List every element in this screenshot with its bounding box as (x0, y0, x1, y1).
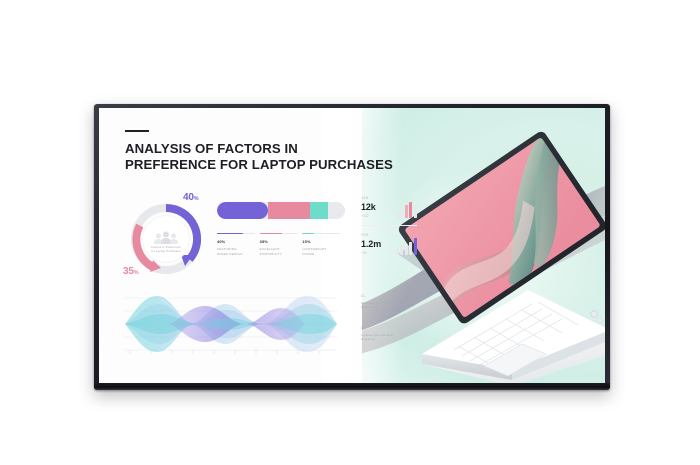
note-number: 02 (361, 326, 419, 330)
legend-caption: EXCELLENT PORTABILITY (260, 247, 298, 255)
sparkline-bar (409, 242, 412, 255)
legend-track (217, 233, 255, 234)
legend: 40% FEATURING SLEEK DESIGN 35% E (217, 233, 345, 256)
legend-track (260, 233, 298, 234)
donut-label-secondary: 35% (123, 266, 138, 277)
legend-track (302, 233, 340, 234)
legend-item: 35% EXCELLENT PORTABILITY (260, 233, 303, 256)
donut-caption-line-2: for Laptop Purchases (140, 249, 192, 253)
title-line-1: ANALYSIS OF FACTORS IN (125, 141, 387, 157)
donut-center-caption: Factors in Preference for Laptop Purchas… (140, 245, 192, 253)
stacked-bar-segment (268, 202, 310, 219)
note-item: 02 Lightweight and Ever Powerful (361, 326, 419, 342)
notes-column: 01 Slim Design We Trust Reasoning 02 Lig… (361, 294, 419, 357)
legend-pct: 40% (217, 239, 255, 244)
sparkline-chart (396, 238, 417, 255)
note-text: Lightweight and Ever Powerful (361, 333, 419, 342)
stat-label: JAN (361, 196, 417, 200)
legend-bar (302, 233, 314, 234)
legend-item: 40% FEATURING SLEEK DESIGN (217, 233, 260, 256)
stat-label: FEB (361, 233, 417, 237)
stat-card: JAN 12k +432 (361, 196, 417, 226)
slide-header: ANALYSIS OF FACTORS IN PREFERENCE FOR LA… (125, 130, 387, 172)
legend-bar (217, 233, 243, 234)
sparkline-bar (405, 246, 408, 255)
legend-pct: 15% (302, 239, 340, 244)
sparkline-bar (409, 202, 412, 218)
note-text: Slim Design We Trust Reasoning (361, 301, 419, 310)
stacked-bar-segment (217, 202, 268, 219)
screenshot-stage: ANALYSIS OF FACTORS IN PREFERENCE FOR LA… (0, 0, 700, 465)
title-line-2: PREFERENCE FOR LAPTOP PURCHASES (125, 157, 387, 173)
page-title: ANALYSIS OF FACTORS IN PREFERENCE FOR LA… (125, 141, 387, 172)
people-icon (154, 231, 178, 244)
legend-caption: LIGHTWEIGHT FRAME (302, 247, 340, 255)
legend-pct: 35% (260, 239, 298, 244)
monitor-device: ANALYSIS OF FACTORS IN PREFERENCE FOR LA… (94, 104, 610, 390)
waveform-svg (125, 290, 337, 360)
waveform-chart (125, 290, 337, 360)
presentation-slide: ANALYSIS OF FACTORS IN PREFERENCE FOR LA… (99, 108, 605, 384)
sparkline-bar (414, 238, 417, 255)
sparkline-bar (400, 245, 403, 255)
legend-caption: FEATURING SLEEK DESIGN (217, 247, 255, 255)
sparkline-bar (396, 249, 399, 255)
title-rule (125, 130, 149, 132)
stacked-bar-segment (310, 202, 328, 219)
metrics-row: Factors in Preference for Laptop Purchas… (125, 196, 417, 282)
legend-bar (260, 233, 283, 234)
stacked-bar-block: 40% FEATURING SLEEK DESIGN 35% E (217, 202, 345, 256)
stacked-bar-segment (328, 202, 345, 219)
donut-label-primary: 40% (183, 192, 198, 203)
note-item: 01 Slim Design We Trust Reasoning (361, 294, 419, 310)
sparkline-bar (400, 210, 403, 218)
note-number: 01 (361, 294, 419, 298)
donut-chart: Factors in Preference for Laptop Purchas… (125, 198, 207, 280)
sparkline-bar (396, 213, 399, 218)
legend-item: 15% LIGHTWEIGHT FRAME (302, 233, 345, 256)
stacked-bar (217, 202, 345, 219)
sparkline-bar (414, 207, 417, 218)
stats-column: JAN 12k +432 FEB (361, 196, 417, 269)
waveform-row: 01 Slim Design We Trust Reasoning 02 Lig… (125, 290, 417, 362)
monitor-screen: ANALYSIS OF FACTORS IN PREFERENCE FOR LA… (99, 108, 605, 384)
sparkline-bar (405, 205, 408, 218)
sparkline-chart (396, 201, 417, 218)
stat-card: FEB 1.2m +3k (361, 233, 417, 262)
